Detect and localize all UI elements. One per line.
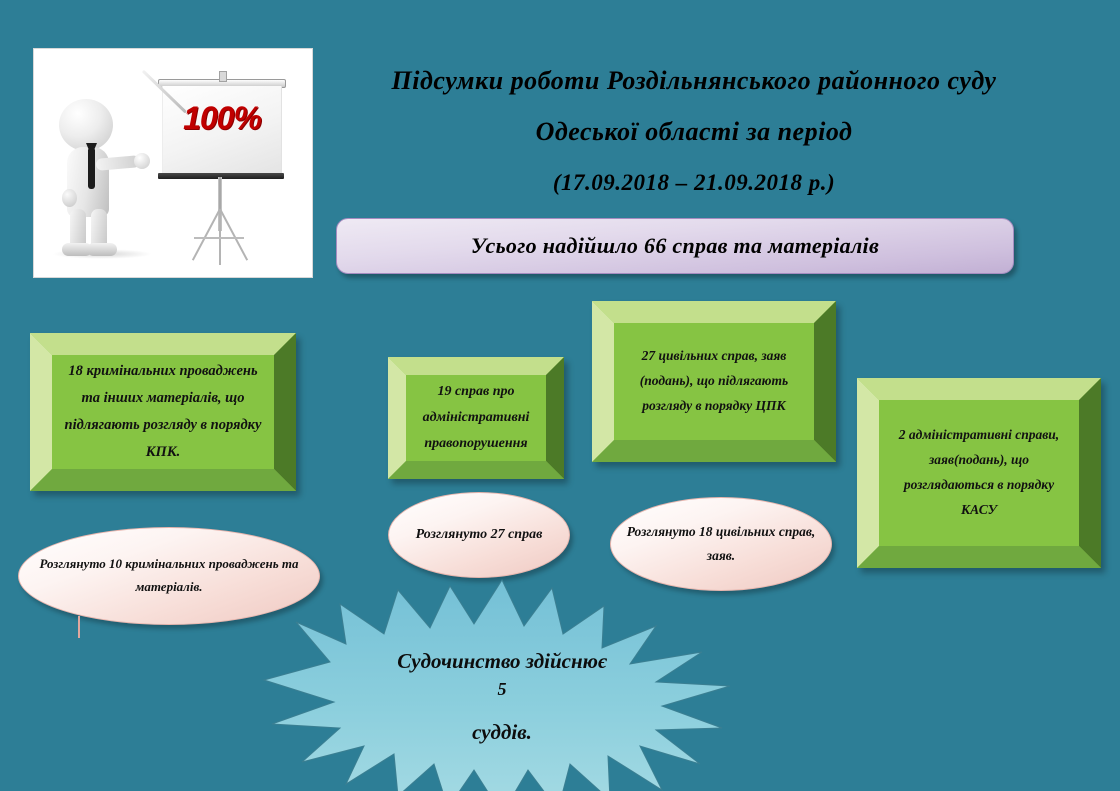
ellipse-connector-tick	[78, 616, 80, 638]
slide-title: Підсумки роботи Роздільнянського районно…	[326, 55, 1062, 208]
tripod-crossbar	[194, 237, 244, 239]
category-box-kasu: 2 адміністративні справи, заяв(подань), …	[857, 378, 1101, 568]
judges-starburst: Судочинство здійснює 5 суддів.	[252, 578, 752, 791]
figure-hand-left	[62, 189, 77, 207]
total-cases-banner-label: Усього надійшло 66 справ та матеріалів	[471, 233, 879, 259]
category-box-inner: 18 кримінальних проваджень та інших мате…	[52, 355, 274, 469]
category-box-inner: 2 адміністративні справи, заяв(подань), …	[879, 400, 1079, 546]
title-line-1: Підсумки роботи Роздільнянського районно…	[326, 55, 1062, 106]
tripod-leg-left	[219, 209, 248, 261]
figure-hand-right	[134, 153, 150, 169]
category-box-inner: 27 цивільних справ, заяв (подань), що пі…	[614, 323, 814, 440]
reviewed-ellipse-27-cases: Розглянуто 27 справ	[388, 492, 570, 578]
category-box-kasu-label: 2 адміністративні справи, заяв(подань), …	[885, 423, 1073, 523]
title-line-3-period: (17.09.2018 – 21.09.2018 р.)	[326, 157, 1062, 208]
category-box-inner: 19 справ про адміністративні правопоруше…	[406, 375, 546, 461]
category-box-cpk-label: 27 цивільних справ, заяв (подань), що пі…	[620, 344, 808, 419]
reviewed-ellipse-18-civil-label: Розглянуто 18 цивільних справ, заяв.	[611, 520, 831, 567]
slide-canvas: 100% Підсумки роботи Роздільнянського ра…	[0, 0, 1120, 791]
projector-screen: 100%	[162, 86, 282, 174]
category-box-kpk: 18 кримінальних проваджень та інших мате…	[30, 333, 296, 491]
figure-head-icon	[59, 99, 113, 151]
reviewed-ellipse-18-civil: Розглянуто 18 цивільних справ, заяв.	[610, 497, 832, 591]
reviewed-ellipse-27-cases-label: Розглянуто 27 справ	[402, 523, 557, 548]
category-box-admin-offences-label: 19 справ про адміністративні правопоруше…	[412, 379, 540, 457]
figure-foot-right	[87, 243, 117, 256]
category-box-cpk: 27 цивільних справ, заяв (подань), що пі…	[592, 301, 836, 462]
figure-tie	[88, 149, 95, 189]
total-cases-banner: Усього надійшло 66 справ та матеріалів	[336, 218, 1014, 274]
presenter-image: 100%	[33, 48, 313, 278]
tripod-leg-right	[192, 209, 221, 261]
category-box-admin-offences: 19 справ про адміністративні правопоруше…	[388, 357, 564, 479]
category-box-kpk-label: 18 кримінальних проваджень та інших мате…	[58, 358, 268, 465]
starburst-shape-icon	[252, 578, 752, 791]
title-line-2: Одеської області за період	[326, 106, 1062, 157]
